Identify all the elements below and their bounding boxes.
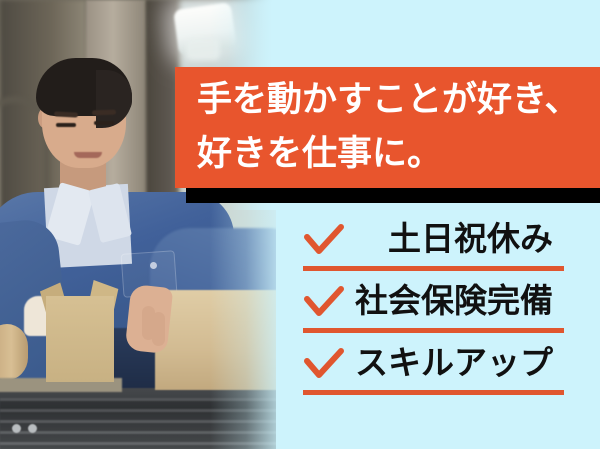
headline-box: 手を動かすことが好き、 好きを仕事に。 — [175, 67, 600, 188]
headline-drop-shadow — [186, 188, 600, 203]
feature-label-1: 土日祝休み — [388, 216, 553, 262]
feature-list: 土日祝休み 社会保険完備 スキルアップ — [276, 206, 600, 406]
photo-worker-eyebrow — [92, 110, 116, 116]
photo-worker-eye — [94, 121, 114, 125]
check-icon — [303, 224, 345, 258]
photo-worker-finger — [152, 312, 165, 346]
photo-machine-knob — [28, 424, 37, 433]
feature-label-2: 社会保険完備 — [355, 278, 553, 324]
feature-label-3: スキルアップ — [355, 340, 553, 386]
photo-uniform-button — [150, 262, 157, 269]
headline-text: 手を動かすことが好き、 好きを仕事に。 — [197, 73, 597, 181]
feature-item-1: 土日祝休み — [276, 216, 600, 278]
feature-underline-3 — [303, 390, 564, 395]
job-advert-banner: 手を動かすことが好き、 好きを仕事に。 土日祝休み 社会保険完備 — [0, 0, 600, 449]
headline-line-1: 手を動かすことが好き、 — [197, 73, 597, 127]
check-icon — [303, 348, 345, 382]
photo-worker-mouth — [74, 152, 102, 158]
photo-machine-knob — [12, 424, 21, 433]
feature-item-3: スキルアップ — [276, 340, 600, 402]
photo-worker-eye — [56, 123, 76, 127]
check-icon — [303, 286, 345, 320]
headline-line-2: 好きを仕事に。 — [197, 127, 597, 181]
feature-underline-1 — [303, 266, 564, 271]
feature-item-2: 社会保険完備 — [276, 278, 600, 340]
feature-underline-2 — [303, 328, 564, 333]
photo-cardboard-box-open — [46, 296, 114, 382]
